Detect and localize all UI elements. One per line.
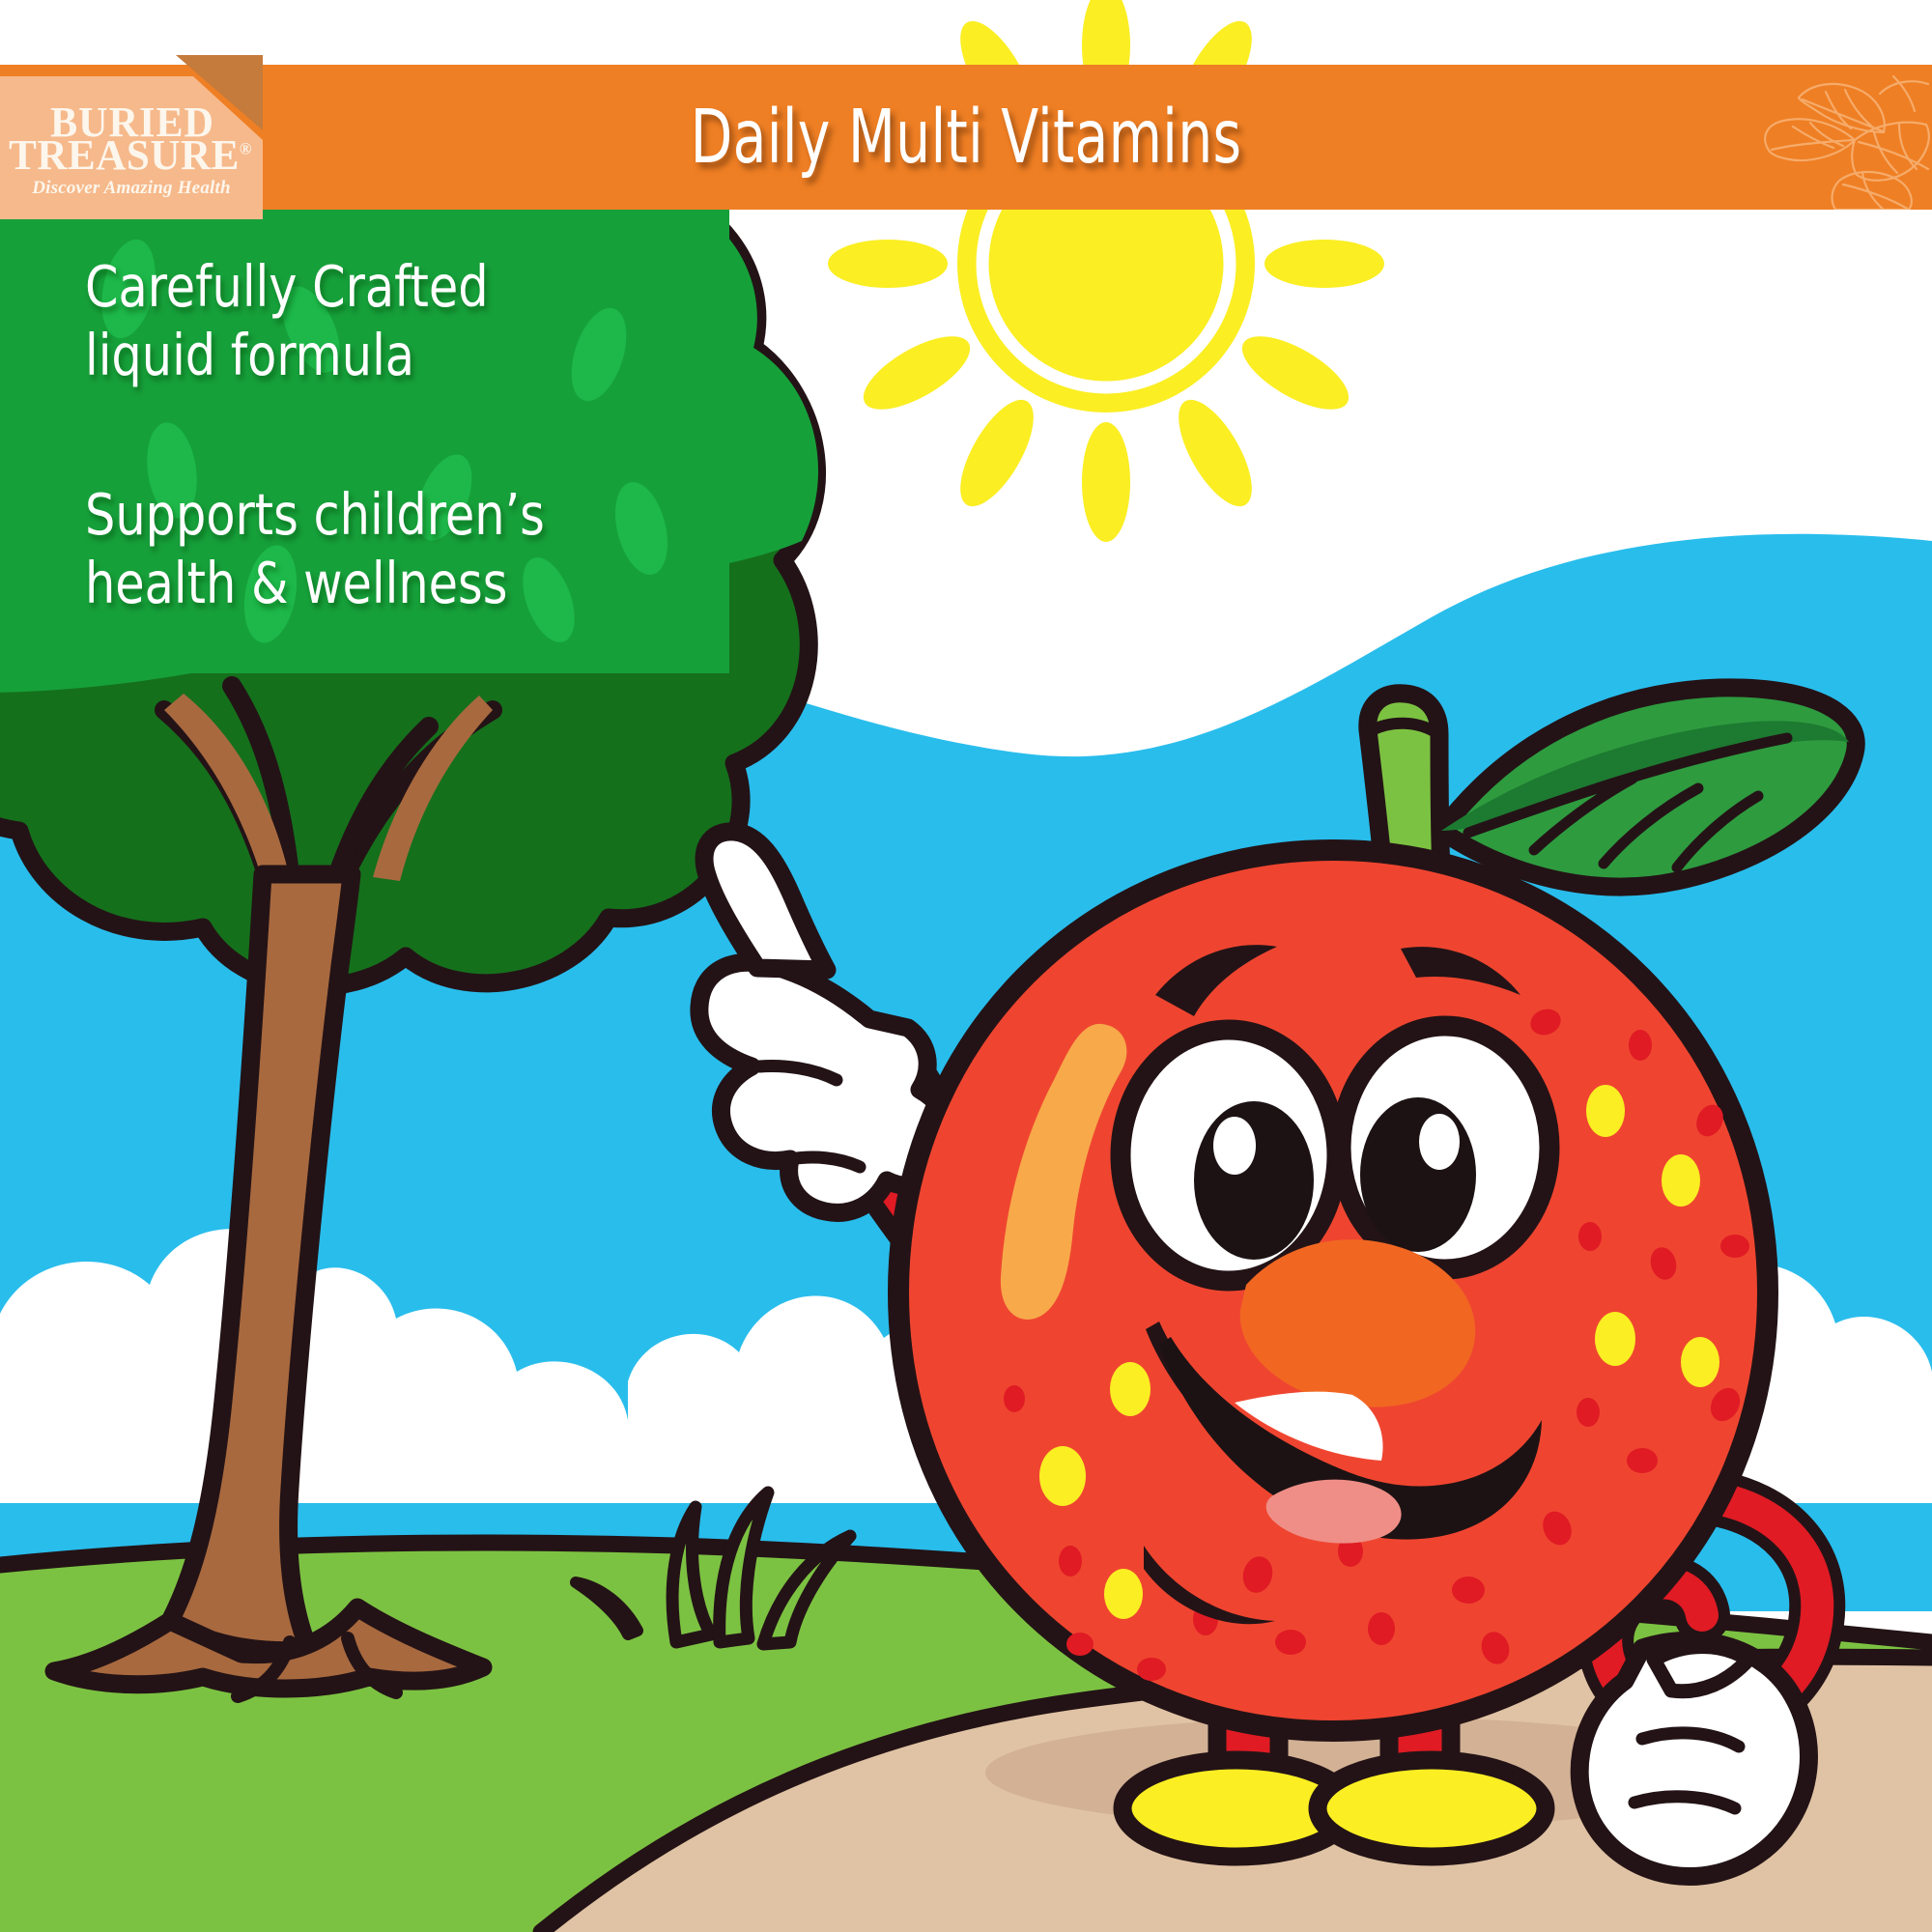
promo-graphic: Carefully Crafted liquid formula Support… <box>0 0 1932 1932</box>
benefit-2-line-2: health & wellness <box>85 549 678 617</box>
benefit-2: Supports children’s health & wellness <box>85 480 678 618</box>
page-title: Daily Multi Vitamins <box>174 65 1758 210</box>
right-shoe <box>1318 1760 1546 1857</box>
right-eye <box>1341 1026 1549 1269</box>
logo-tag-bg <box>0 76 263 219</box>
benefits-panel: Carefully Crafted liquid formula Support… <box>0 210 729 673</box>
logo-tag-shape <box>0 55 263 219</box>
benefit-1-line-2: liquid formula <box>85 321 678 389</box>
benefit-2-line-1: Supports children’s <box>85 480 678 549</box>
brand-logo[interactable]: BURIED TREASURE® Discover Amazing Health <box>0 55 263 219</box>
benefit-1-line-1: Carefully Crafted <box>85 252 678 321</box>
left-eye <box>1121 1030 1337 1281</box>
benefit-1: Carefully Crafted liquid formula <box>85 252 678 390</box>
header-banner: Daily Multi Vitamins <box>0 65 1932 210</box>
